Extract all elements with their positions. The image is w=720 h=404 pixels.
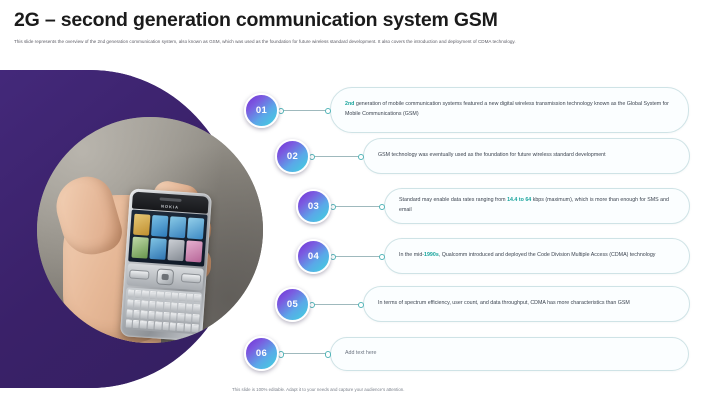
step-badge-01[interactable]: 01 [244, 93, 279, 128]
content-box-02[interactable]: GSM technology was eventually used as th… [363, 138, 690, 174]
highlight-text-01: 2nd [345, 101, 354, 107]
connector-line [310, 156, 363, 157]
content-text-04-after: , Qualcomm introduced and deployed the C… [439, 252, 656, 258]
list-item[interactable]: 03 Standard may enable data rates rangin… [296, 188, 690, 224]
content-box-01[interactable]: 2nd generation of mobile communication s… [330, 87, 689, 133]
step-badge-03[interactable]: 03 [296, 189, 331, 224]
list-item[interactable]: 04 In the mid-1990s, Qualcomm introduced… [296, 238, 690, 274]
step-badge-04[interactable]: 04 [296, 239, 331, 274]
content-text-05: In terms of spectrum efficiency, user co… [378, 299, 630, 309]
content-text-03-before: Standard may enable data rates ranging f… [399, 197, 507, 203]
connector-line [279, 110, 330, 111]
content-text-04: In the mid-1990s, Qualcomm introduced an… [399, 251, 655, 261]
step-badge-06[interactable]: 06 [244, 336, 279, 371]
content-box-03[interactable]: Standard may enable data rates ranging f… [384, 188, 690, 224]
step-badge-05[interactable]: 05 [275, 287, 310, 322]
content-text-01-after: generation of mobile communication syste… [345, 101, 669, 117]
step-badge-02[interactable]: 02 [275, 139, 310, 174]
connector-line [279, 353, 330, 354]
content-text-04-before: In the mid- [399, 252, 424, 258]
highlight-text-03: 14.4 to 64 [507, 197, 531, 203]
list-item[interactable]: 02 GSM technology was eventually used as… [275, 138, 690, 174]
list-item[interactable]: 05 In terms of spectrum efficiency, user… [275, 286, 690, 322]
content-box-04[interactable]: In the mid-1990s, Qualcomm introduced an… [384, 238, 690, 274]
connector-line [331, 256, 384, 257]
list-item[interactable]: 01 2nd generation of mobile communicatio… [244, 87, 689, 133]
content-text-01: 2nd generation of mobile communication s… [345, 100, 677, 120]
content-text-02: GSM technology was eventually used as th… [378, 151, 606, 161]
highlight-text-04: 1990s [424, 252, 439, 258]
footer-note: This slide is 100% editable. Adapt it to… [232, 387, 404, 392]
connector-line [331, 206, 384, 207]
content-text-03: Standard may enable data rates ranging f… [399, 196, 678, 216]
list-item[interactable]: 06 Add text here [244, 336, 689, 371]
content-text-06: Add text here [345, 349, 377, 359]
connector-line [310, 304, 363, 305]
content-box-05[interactable]: In terms of spectrum efficiency, user co… [363, 286, 690, 322]
content-rows: 01 2nd generation of mobile communicatio… [0, 0, 720, 404]
content-box-06[interactable]: Add text here [330, 337, 689, 371]
